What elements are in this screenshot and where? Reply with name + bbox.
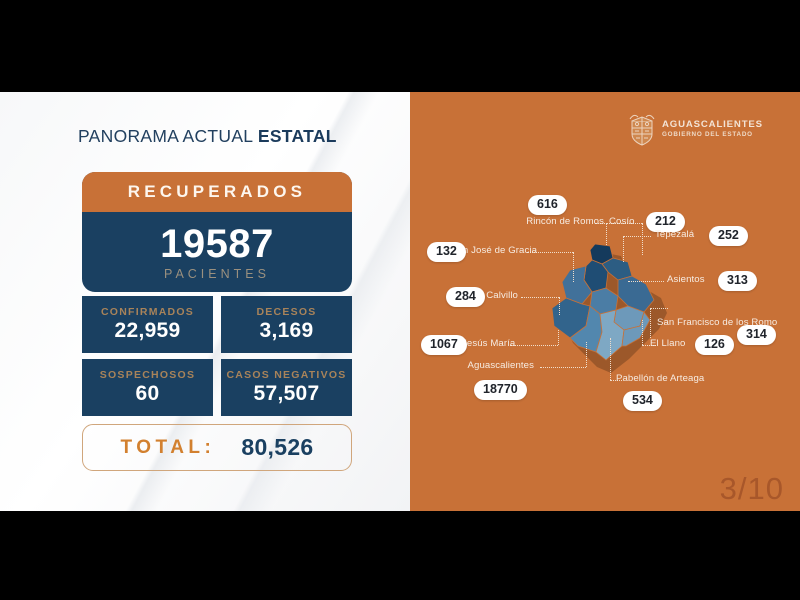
map-value-aguascalientes: 18770 xyxy=(474,380,527,400)
stat-card-confirmados: CONFIRMADOS 22,959 xyxy=(82,296,213,353)
map-label-asientos: Asientos xyxy=(667,274,705,285)
stat-value: 60 xyxy=(136,382,160,406)
recuperados-card: RECUPERADOS 19587 PACIENTES xyxy=(82,172,352,292)
map-label-cosio: Cosío xyxy=(609,216,635,227)
leader-line-san-francisco-de-los-romo xyxy=(650,308,668,309)
map-value-san-jose-de-gracia: 132 xyxy=(427,242,466,262)
map-label-jesus-maria: Jesús María xyxy=(462,338,506,349)
recuperados-label: RECUPERADOS xyxy=(128,182,306,202)
map-value-san-francisco-de-los-romo: 314 xyxy=(737,325,776,345)
map-value-calvillo: 284 xyxy=(446,287,485,307)
leader-line-el-llano-v xyxy=(642,320,643,345)
leader-line-jesus-maria xyxy=(510,345,558,346)
recuperados-body: 19587 PACIENTES xyxy=(82,212,352,292)
letterbox-bottom xyxy=(0,511,800,600)
map-value-el-llano: 126 xyxy=(695,335,734,355)
map-value-pabellon-de-arteaga: 534 xyxy=(623,391,662,411)
stat-value: 22,959 xyxy=(114,319,180,343)
leader-line-aguascalientes-v xyxy=(586,342,587,367)
page-title: PANORAMA ACTUAL ESTATAL xyxy=(78,126,337,147)
stat-card-casos-negativos: CASOS NEGATIVOS 57,507 xyxy=(221,359,352,416)
stat-value: 3,169 xyxy=(259,319,313,343)
map-panel: AGUASCALIENTES GOBIERNO DEL ESTADO xyxy=(410,92,800,511)
leader-line-tepezala xyxy=(623,236,651,237)
page-title-bold: ESTATAL xyxy=(258,126,337,146)
stat-label: DECESOS xyxy=(256,306,316,318)
stat-value: 57,507 xyxy=(253,382,319,406)
stat-label: CONFIRMADOS xyxy=(101,306,194,318)
total-value: 80,526 xyxy=(241,434,313,461)
leader-line-jesus-maria-v xyxy=(558,330,559,345)
leader-line-rincon-de-romos-v xyxy=(642,223,643,255)
total-card: TOTAL: 80,526 xyxy=(82,424,352,471)
leader-line-tepezala-v xyxy=(623,236,624,262)
map-label-tepezala: Tepezalá xyxy=(655,229,694,240)
total-label: TOTAL: xyxy=(120,437,215,459)
map-label-rincon-de-romos: Rincón de Romos xyxy=(502,216,604,227)
recuperados-sublabel: PACIENTES xyxy=(164,267,270,281)
leader-line-calvillo-v xyxy=(559,297,560,315)
map-label-el-llano: El Llano xyxy=(650,338,685,349)
page-title-light: PANORAMA ACTUAL xyxy=(78,126,253,146)
recuperados-header: RECUPERADOS xyxy=(82,172,352,212)
map-value-tepezala: 252 xyxy=(709,226,748,246)
map-label-aguascalientes: Aguascalientes xyxy=(460,360,534,371)
leader-line-pabellon-de-arteaga-v xyxy=(610,338,611,380)
leader-line-san-jose-de-gracia-v xyxy=(573,252,574,282)
stat-label: CASOS NEGATIVOS xyxy=(226,369,346,381)
leader-line-cosio-v xyxy=(606,223,607,245)
stat-label: SOSPECHOSOS xyxy=(100,369,195,381)
stat-card-sospechosos: SOSPECHOSOS 60 xyxy=(82,359,213,416)
map-label-pabellon-de-arteaga: Pabellón de Arteaga xyxy=(616,373,704,384)
letterbox-top xyxy=(0,0,800,92)
map-value-jesus-maria: 1067 xyxy=(421,335,467,355)
leader-line-asientos xyxy=(628,281,664,282)
page-indicator: 3/10 xyxy=(720,471,784,507)
map-value-rincon-de-romos: 616 xyxy=(528,195,567,215)
stat-card-decesos: DECESOS 3,169 xyxy=(221,296,352,353)
leader-line-calvillo xyxy=(521,297,559,298)
slide-stage: PANORAMA ACTUAL ESTATAL RECUPERADOS 1958… xyxy=(0,0,800,600)
leader-line-san-francisco-de-los-romo-v xyxy=(650,308,651,338)
leader-line-aguascalientes xyxy=(540,367,586,368)
map-value-asientos: 313 xyxy=(718,271,757,291)
aguascalientes-map: Rincón de Romos 616 Cosío 212 Tepezalá 2… xyxy=(410,92,800,511)
stats-panel: PANORAMA ACTUAL ESTATAL RECUPERADOS 1958… xyxy=(0,92,410,511)
recuperados-value: 19587 xyxy=(160,224,274,264)
map-label-san-francisco-de-los-romo: San Francisco de los Romo xyxy=(657,317,723,329)
